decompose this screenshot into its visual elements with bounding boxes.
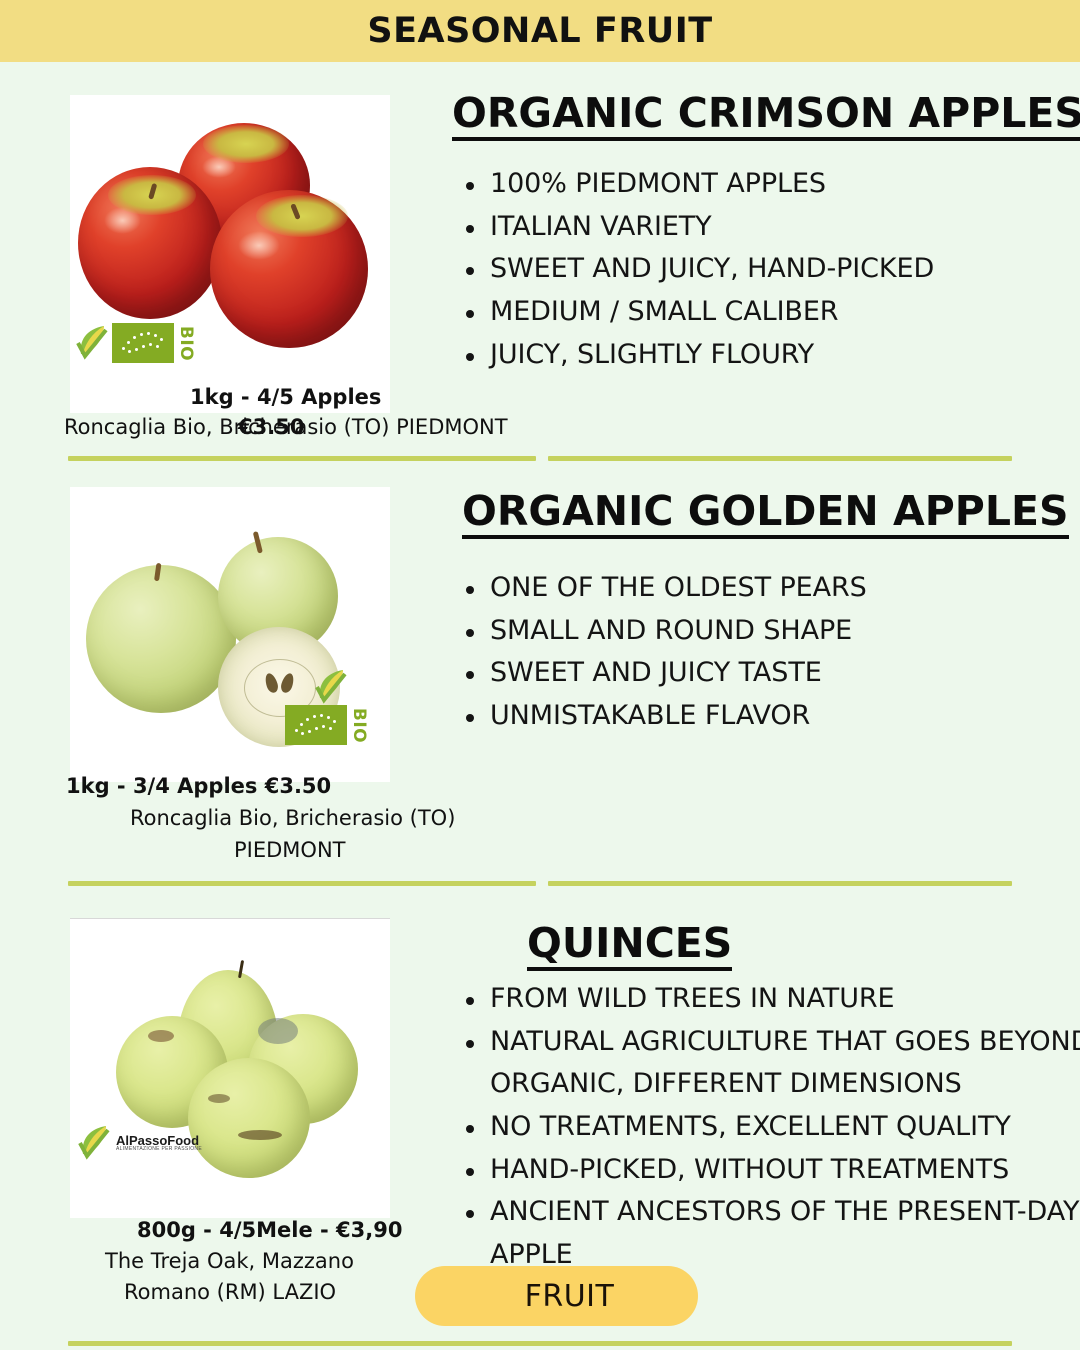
product-3-origin-line-2: Romano (RM) LAZIO [124,1280,336,1304]
list-item: SWEET AND JUICY TASTE [490,652,1080,695]
alpassofood-logo: AlPassoFood Alimentazione per Passione [78,1123,202,1163]
organic-leaf-icon [76,323,110,363]
list-item: ONE OF THE OLDEST PEARS [490,567,1080,610]
quince-blemish [238,1130,282,1140]
poster-page: SEASONAL FRUIT [0,0,1080,1350]
list-item: JUICY, SLIGHTLY FLOURY [490,334,1080,377]
section-divider [0,456,1080,462]
list-item: NATURAL AGRICULTURE THAT GOES BEYOND ORG… [490,1021,1080,1106]
quince-blemish [258,1018,298,1044]
product-2-photo: BIO [70,487,390,782]
eu-bio-badge: BIO [112,323,198,363]
list-item: 100% PIEDMONT APPLES [490,163,1080,206]
page-title: SEASONAL FRUIT [367,11,712,51]
product-3-quantity: 800g - 4/5Mele - €3,90 [137,1218,402,1242]
header-bar: SEASONAL FRUIT [0,0,1080,62]
list-item: MEDIUM / SMALL CALIBER [490,291,1080,334]
divider-left [68,881,536,886]
product-1-price: €3.50 [238,415,304,439]
divider-left [68,456,536,461]
fruit-button[interactable]: FRUIT [415,1266,698,1326]
list-item: SWEET AND JUICY, HAND-PICKED [490,248,1080,291]
section-divider [0,881,1080,887]
apple-calyx-icon [203,125,289,163]
list-item: NO TREATMENTS, EXCELLENT QUALITY [490,1106,1080,1149]
organic-leaf-icon [315,667,349,707]
quince-blemish [148,1030,174,1042]
product-1-photo: BIO [70,95,390,413]
divider-right [548,456,1012,461]
photo-top-border [70,918,390,919]
bio-label: BIO [178,325,195,360]
list-item: HAND-PICKED, WITHOUT TREATMENTS [490,1149,1080,1192]
list-item: ANCIENT ANCESTORS OF THE PRESENT-DAY APP… [490,1191,1080,1276]
quince-icon [188,1058,310,1178]
apple-calyx-icon [256,195,348,237]
list-item: ITALIAN VARIETY [490,206,1080,249]
product-2-title: ORGANIC GOLDEN APPLES [462,490,1069,539]
product-2-quantity: 1kg - 3/4 Apples €3.50 [66,774,331,798]
product-3-origin-line-1: The Treja Oak, Mazzano [105,1249,354,1273]
brand-leaf-icon [78,1123,112,1163]
product-1-bullets: 100% PIEDMONT APPLES ITALIAN VARIETY SWE… [452,163,1080,376]
bottom-divider [68,1341,1012,1346]
bio-label: BIO [351,707,368,742]
product-2-origin-line-2: PIEDMONT [234,838,345,862]
golden-apple-icon [86,565,236,713]
eu-bio-badge: BIO [285,705,371,745]
product-2-bullets: ONE OF THE OLDEST PEARS SMALL AND ROUND … [452,567,1080,738]
product-3-title: QUINCES [527,922,732,971]
list-item: SMALL AND ROUND SHAPE [490,610,1080,653]
product-3-bullets: FROM WILD TREES IN NATURE NATURAL AGRICU… [452,978,1080,1277]
divider-right [548,881,1012,886]
list-item: UNMISTAKABLE FLAVOR [490,695,1080,738]
product-2-origin-line-1: Roncaglia Bio, Bricherasio (TO) [130,806,455,830]
quince-blemish [208,1094,230,1103]
list-item: FROM WILD TREES IN NATURE [490,978,1080,1021]
product-1-title: ORGANIC CRIMSON APPLES [452,92,1080,141]
product-1-quantity: 1kg - 4/5 Apples [190,385,381,409]
brand-name: AlPassoFood [116,1134,202,1147]
product-3-photo: AlPassoFood Alimentazione per Passione [70,918,390,1218]
brand-tagline: Alimentazione per Passione [116,1147,202,1152]
